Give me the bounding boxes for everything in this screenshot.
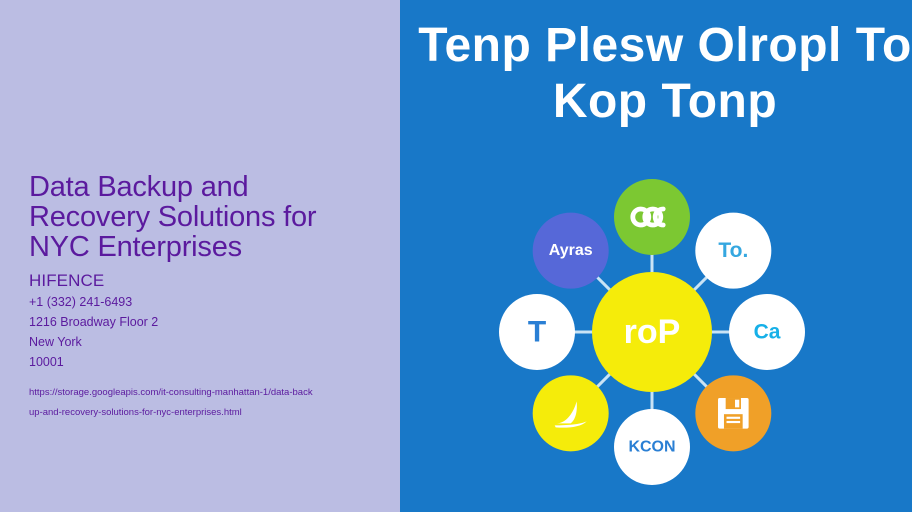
node-yellow-bottom-left[interactable]: [533, 375, 609, 451]
node-label: Ayras: [549, 242, 593, 259]
node-purple-top-left[interactable]: Ayras: [533, 213, 609, 289]
left-info-panel: Data Backup and Recovery Solutions for N…: [0, 0, 400, 512]
left-content-block: Data Backup and Recovery Solutions for N…: [29, 172, 374, 423]
diagram-svg: To.CaKCONTAyras roP: [406, 160, 912, 512]
node-label: Ca: [754, 321, 781, 344]
center-node[interactable]: roP: [592, 272, 712, 392]
node-label: KCON: [628, 439, 675, 456]
city-name: New York: [29, 332, 374, 352]
node-white-bottom[interactable]: KCON: [614, 409, 690, 485]
hub-and-spoke-diagram: To.CaKCONTAyras roP: [406, 160, 912, 512]
postal-code: 10001: [29, 352, 374, 372]
center-node-label: roP: [624, 313, 681, 351]
node-white-right[interactable]: Ca: [729, 294, 805, 370]
node-circle[interactable]: [533, 375, 609, 451]
screenshot-canvas: Data Backup and Recovery Solutions for N…: [0, 0, 912, 512]
page-title: Data Backup and Recovery Solutions for N…: [29, 172, 369, 262]
street-address: 1216 Broadway Floor 2: [29, 312, 374, 332]
source-url[interactable]: https://storage.googleapis.com/it-consul…: [29, 383, 374, 423]
node-white-left[interactable]: T: [499, 294, 575, 370]
source-url-line-1[interactable]: https://storage.googleapis.com/it-consul…: [29, 383, 374, 403]
node-circle[interactable]: [614, 179, 690, 255]
node-label: T: [528, 316, 546, 349]
node-orange-bottom-right[interactable]: [695, 375, 771, 451]
node-white-top-right[interactable]: To.: [695, 213, 771, 289]
floppy-disk-save-icon: [718, 398, 749, 429]
hero-title: Tenp Plesw Olropl To Kop Tonp: [400, 18, 912, 130]
hero-title-line-2: Kop Tonp: [400, 74, 912, 130]
phone-number: +1 (332) 241-6493: [29, 292, 374, 312]
node-green-top[interactable]: [614, 179, 690, 255]
node-label: To.: [718, 239, 748, 262]
source-url-line-2[interactable]: up-and-recovery-solutions-for-nyc-enterp…: [29, 403, 374, 423]
center-node-group: roP: [592, 272, 712, 392]
right-hero-panel: Tenp Plesw Olropl To Kop Tonp To.CaKCONT…: [400, 0, 912, 512]
hero-title-line-1: Tenp Plesw Olropl To: [400, 18, 912, 74]
company-name: HIFENCE: [29, 270, 374, 292]
